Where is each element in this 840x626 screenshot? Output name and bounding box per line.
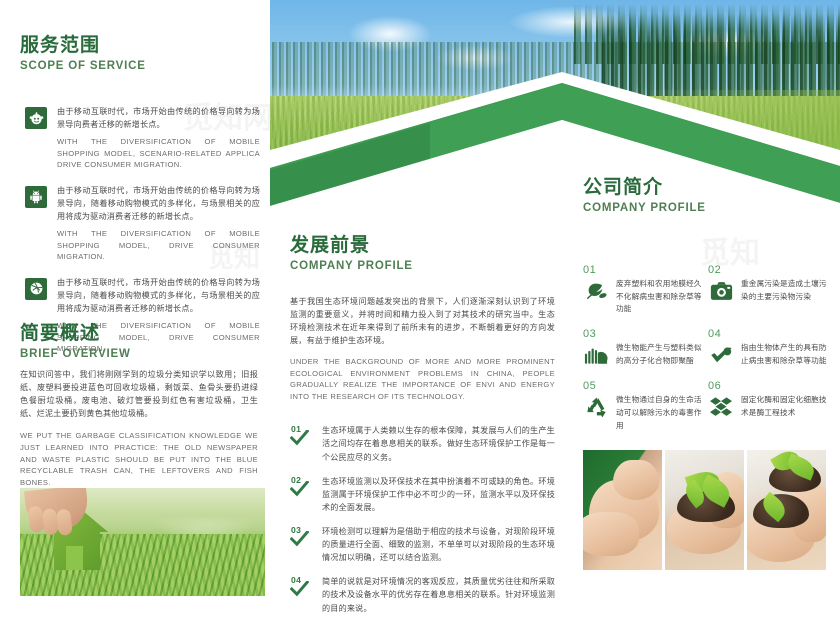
scope-title-cn: 服务范围	[20, 34, 250, 58]
point-text: 生态环境监测以及环保技术在其中扮演着不可或缺的角色。环境监测属于环境保护工作中必…	[322, 475, 555, 514]
check-icon	[290, 581, 309, 602]
check-badge-icon	[708, 342, 734, 368]
cell-number: 05	[583, 380, 708, 392]
point-text: 生态环境属于人类赖以生存的根本保障，其发展与人们的生产生活之间均存在着息息相关的…	[322, 424, 555, 463]
brochure-page: 觅知网 觅知 觅知 服务范围 SCOPE OF SERVICE	[0, 0, 840, 619]
middle-column: 发展前景 COMPANY PROFILE 基于我国生态环境问题越发突出的背景下，…	[290, 234, 555, 626]
company-feature-cell: 02 重金属污染是造成土壤污染的主要污染物污染	[708, 264, 833, 316]
leaf-plant-icon	[583, 278, 609, 304]
cell-text: 固定化酶和固定化细胞技术是酶工程技术	[741, 394, 833, 420]
check-icon	[290, 481, 309, 502]
prospect-intro-cn: 基于我国生态环境问题越发突出的背景下，人们逐渐深刻认识到了环境监测的重要意义，并…	[290, 295, 555, 347]
point-text: 环境检测可以理解为是借助于相应的技术与设备，对现阶段环境的质量进行全面、细致的监…	[322, 525, 555, 564]
cell-text: 废弃塑料和农用地膜经久不化解病虫害和除杂草等功能	[616, 278, 708, 316]
check-icon	[290, 430, 309, 451]
dribbble-ball-icon	[25, 278, 47, 300]
feature-text-cn: 由于移动互联时代，市场开始由传统的价格导向转为场景导向，随着移动购物模式的多样化…	[57, 184, 260, 223]
scope-feature-item: 由于移动互联时代，市场开始由传统的价格导向转为场景导向费者迁移的新增长点。 WI…	[25, 105, 260, 171]
reddit-face-icon	[25, 107, 47, 129]
cell-number: 01	[583, 264, 708, 276]
overview-text-en: WE PUT THE GARBAGE CLASSIFICATION KNOWLE…	[20, 430, 258, 488]
company-feature-cell: 04 指由生物体产生的具有防止病虫害和除杂草等功能	[708, 328, 833, 368]
recycle-icon	[583, 394, 609, 420]
feature-text-en: WITH THE DIVERSIFICATION OF MOBILE SHOPP…	[57, 136, 260, 171]
prospect-point: 04 简单的说就是对环境情况的客观反应，其质量优劣往往和所采取的技术及设备水平的…	[290, 575, 555, 614]
company-feature-cell: 05 微生物通过自身的生命活动可以解除污水的毒害作用	[583, 380, 708, 432]
cell-text: 微生物通过自身的生命活动可以解除污水的毒害作用	[616, 394, 708, 432]
hands-seedling-soil-photo	[747, 450, 826, 570]
scope-feature-item: 由于移动互联时代，市场开始由传统的价格导向转为场景导向，随着移动购物模式的多样化…	[25, 184, 260, 263]
prospect-heading: 发展前景 COMPANY PROFILE	[290, 234, 555, 272]
overview-text-cn: 在知识问答中，我们将刚刚学到的垃圾分类知识学以致用；旧报纸、废塑料要投进蓝色可回…	[20, 368, 258, 420]
company-feature-cell: 03 微生物能产生与塑料类似的高分子化合物即聚酯	[583, 328, 708, 368]
cell-text: 微生物能产生与塑料类似的高分子化合物即聚酯	[616, 342, 708, 368]
scope-heading: 服务范围 SCOPE OF SERVICE	[20, 34, 250, 72]
prospect-intro: 基于我国生态环境问题越发突出的背景下，人们逐渐深刻认识到了环境监测的重要意义，并…	[290, 295, 555, 403]
company-feature-cell: 06 固定化酶和固定化细胞技术是酶工程技术	[708, 380, 833, 432]
point-marker: 03	[290, 525, 314, 551]
company-feature-cell: 01 废弃塑料和农用地膜经久不化解病虫害和除杂草等功能	[583, 264, 708, 316]
cell-number: 03	[583, 328, 708, 340]
scope-title-en: SCOPE OF SERVICE	[20, 60, 250, 72]
company-title-cn: 公司简介	[583, 176, 833, 200]
right-column: 公司简介 COMPANY PROFILE 01 废弃塑料和农用地膜经久不化解病虫…	[583, 176, 833, 444]
feature-text-cn: 由于移动互联时代，市场开始由传统的价格导向转为场景导向，随着移动购物模式的多样化…	[57, 276, 260, 315]
check-icon	[290, 531, 309, 552]
dropbox-icon	[708, 394, 734, 420]
camera-icon	[708, 278, 734, 304]
feature-text-en: WITH THE DIVERSIFICATION OF MOBILE SHOPP…	[57, 228, 260, 263]
cell-text: 重金属污染是造成土壤污染的主要污染物污染	[741, 278, 833, 304]
point-text: 简单的说就是对环境情况的客观反应，其质量优劣往往和所采取的技术及设备水平的优劣存…	[322, 575, 555, 614]
point-marker: 04	[290, 575, 314, 601]
overview-title-cn: 简要概述	[20, 322, 255, 346]
overview-heading: 简要概述 BRIEF OVERVIEW	[20, 322, 255, 360]
hands-child-photo	[583, 450, 662, 570]
prospect-title-cn: 发展前景	[290, 234, 555, 258]
company-title-en: COMPANY PROFILE	[583, 202, 833, 214]
cell-text: 指由生物体产生的具有防止病虫害和除杂草等功能	[741, 342, 833, 368]
company-heading: 公司简介 COMPANY PROFILE	[583, 176, 833, 214]
prospect-title-en: COMPANY PROFILE	[290, 260, 555, 272]
overview-title-en: BRIEF OVERVIEW	[20, 348, 255, 360]
company-feature-grid: 01 废弃塑料和农用地膜经久不化解病虫害和除杂草等功能 02	[583, 264, 833, 445]
green-grass-house-photo	[20, 488, 265, 596]
prospect-intro-en: UNDER THE BACKGROUND OF MORE AND MORE PR…	[290, 356, 555, 402]
overview-body: 在知识问答中，我们将刚刚学到的垃圾分类知识学以致用；旧报纸、废塑料要投进蓝色可回…	[20, 368, 258, 488]
right-photo-strip	[583, 450, 826, 570]
feature-text-cn: 由于移动互联时代，市场开始由传统的价格导向转为场景导向费者迁移的新增长点。	[57, 105, 260, 131]
prospect-point: 01 生态环境属于人类赖以生存的根本保障，其发展与人们的生产生活之间均存在着息息…	[290, 424, 555, 463]
cell-number: 04	[708, 328, 833, 340]
prospect-point: 03 环境检测可以理解为是借助于相应的技术与设备，对现阶段环境的质量进行全面、细…	[290, 525, 555, 564]
prospect-point-list: 01 生态环境属于人类赖以生存的根本保障，其发展与人们的生产生活之间均存在着息息…	[290, 424, 555, 614]
cell-number: 02	[708, 264, 833, 276]
point-marker: 02	[290, 475, 314, 501]
prospect-point: 02 生态环境监测以及环保技术在其中扮演着不可或缺的角色。环境监测属于环境保护工…	[290, 475, 555, 514]
cell-number: 06	[708, 380, 833, 392]
left-column: 服务范围 SCOPE OF SERVICE	[0, 0, 270, 619]
point-marker: 01	[290, 424, 314, 450]
soundwave-icon	[583, 342, 609, 368]
android-robot-icon	[25, 186, 47, 208]
hands-sprout-soil-photo	[665, 450, 744, 570]
